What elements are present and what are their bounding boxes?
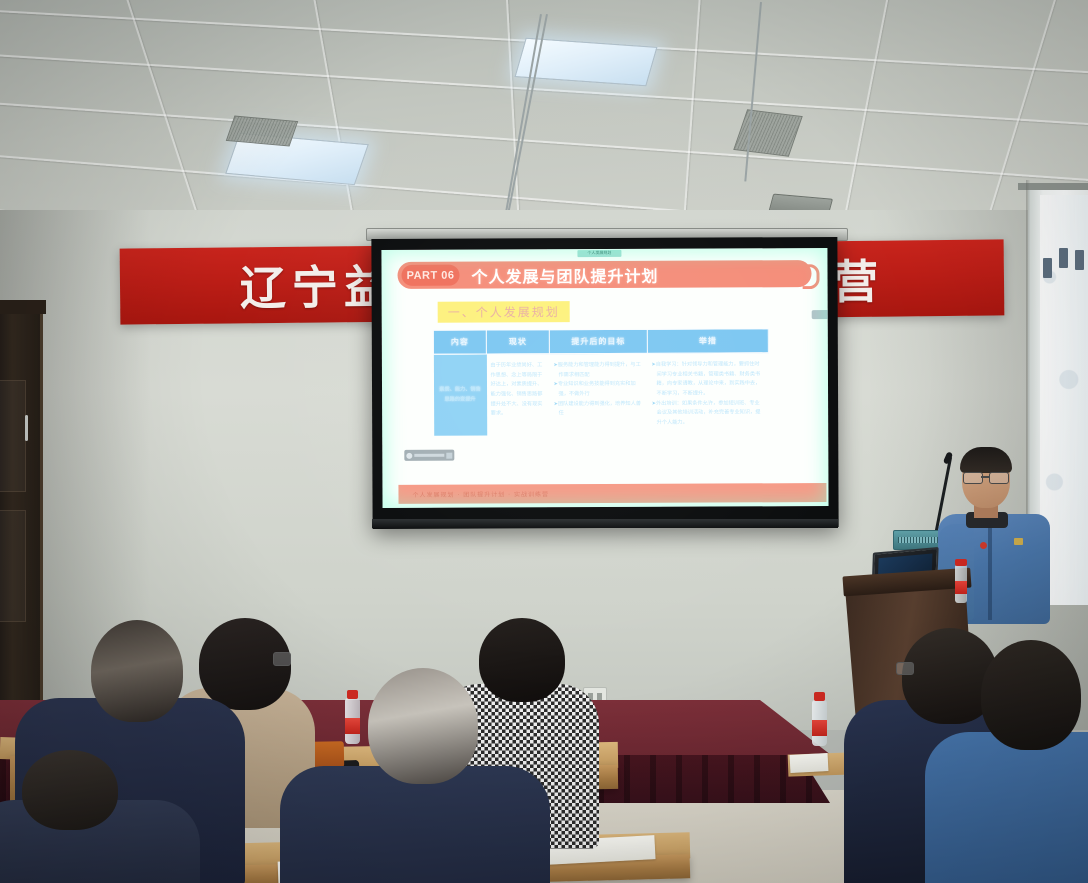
door-frame [0, 300, 46, 314]
slide-top-chip: 个人发展规划 [577, 250, 621, 257]
ceiling-vent-1 [226, 116, 298, 147]
watermark-logo-icon [406, 452, 412, 458]
glasses-icon [896, 662, 914, 675]
presenter-pocket-badge-icon [1014, 538, 1023, 545]
slide-table: 内容 现状 提升后的目标 举措 素质、能力、销售思路的变提升 由于历年业绩尚好、… [433, 328, 769, 436]
door[interactable] [0, 300, 43, 700]
bottle-label [345, 718, 360, 734]
table-row: 素质、能力、销售思路的变提升 由于历年业绩尚好、工作思想、念上等局限于好达上，对… [433, 353, 768, 436]
audience-head [91, 620, 183, 722]
audience-head [981, 640, 1081, 750]
audience-water-bottle-2[interactable] [812, 700, 827, 746]
presenter-badge-icon [980, 542, 987, 549]
watermark-label [414, 454, 444, 457]
ppt-watermark-toolbar[interactable] [404, 450, 454, 461]
classroom-photo-scene: 辽宁益康“卓越”实战训练营 个人发展规划 PART 06 个人发展与团队提升计划… [0, 0, 1088, 883]
powerpoint-slide[interactable]: 个人发展规划 PART 06 个人发展与团队提升计划 一、个人发展规划 内容 现… [381, 248, 828, 508]
podium-water-bottle[interactable] [955, 565, 967, 603]
cell-current-status: 由于历年业绩尚好、工作思想、念上等局限于好达上，对素质提升、能力强化、销售思路都… [486, 354, 549, 436]
bottle-cap-icon [814, 692, 825, 701]
table-header-status: 现状 [486, 330, 549, 354]
table-header-goal: 提升后的目标 [549, 329, 647, 353]
bottle-label [955, 581, 967, 594]
cell-goals: ➤服务能力和管理能力得到提升，与工作需求相匹配 ➤专业知识和业务技能得到充实和加… [549, 353, 647, 435]
slide-title: 个人发展与团队提升计划 [471, 262, 658, 287]
presenter-placket [988, 524, 992, 620]
audience-head [368, 668, 478, 784]
bottle-cap-icon [955, 559, 967, 566]
table-header-measures: 举措 [647, 329, 768, 354]
slide-footer-bar: 个人发展规划 · 团队提升计划 · 实战训练营 [398, 483, 826, 504]
audience-torso [925, 732, 1088, 883]
slide-subtitle: 一、个人发展规划 [438, 301, 570, 323]
cell-measures: ➤自我学习：针对领导力和管理能力，要抓住时间学习专业相关书籍，管理类书籍、财务类… [647, 353, 768, 435]
handout-paper-3[interactable] [790, 753, 829, 773]
slide-side-chip[interactable] [812, 310, 829, 319]
glasses-icon [962, 472, 1010, 482]
bottle-label [812, 720, 827, 736]
measure-bullet: ➤自我学习：针对领导力和管理能力，要抓住时间学习专业相关书籍，管理类书籍、财务类… [651, 360, 764, 399]
ceiling [0, 0, 1088, 232]
audience-head [479, 618, 565, 702]
ceiling-vent-2 [733, 109, 803, 156]
slide-part-badge: PART 06 [401, 265, 459, 286]
bottle-cap-icon [347, 690, 358, 699]
audience-head [22, 750, 118, 830]
goal-bullet: ➤专业知识和业务技能得到充实和加强，不做外行 [553, 380, 643, 400]
glasses-icon [273, 652, 291, 666]
table-header-row: 内容 现状 提升后的目标 举措 [433, 329, 768, 354]
presenter-hair [960, 447, 1012, 473]
slide-header-bar: PART 06 个人发展与团队提升计划 [397, 260, 811, 289]
screen-bottom-bar [372, 519, 838, 528]
watermark-square-icon [446, 452, 452, 458]
goal-bullet: ➤服务能力和管理能力得到提升，与工作需求相匹配 [553, 361, 643, 381]
audience-water-bottle-1[interactable] [345, 698, 360, 744]
projection-screen[interactable]: 个人发展规划 PART 06 个人发展与团队提升计划 一、个人发展规划 内容 现… [371, 237, 838, 529]
slide-footer-text: 个人发展规划 · 团队提升计划 · 实战训练营 [412, 489, 548, 499]
cell-content-label: 素质、能力、销售思路的变提升 [433, 354, 486, 436]
goal-bullet: ➤团队建设能力得到强化，培养知人善任 [554, 399, 644, 419]
table-header-content: 内容 [433, 330, 486, 354]
measure-bullet: ➤外出培训：如果条件允许，参加短训班、专业会议及其他培训活动，补充完善专业知识，… [652, 399, 765, 428]
